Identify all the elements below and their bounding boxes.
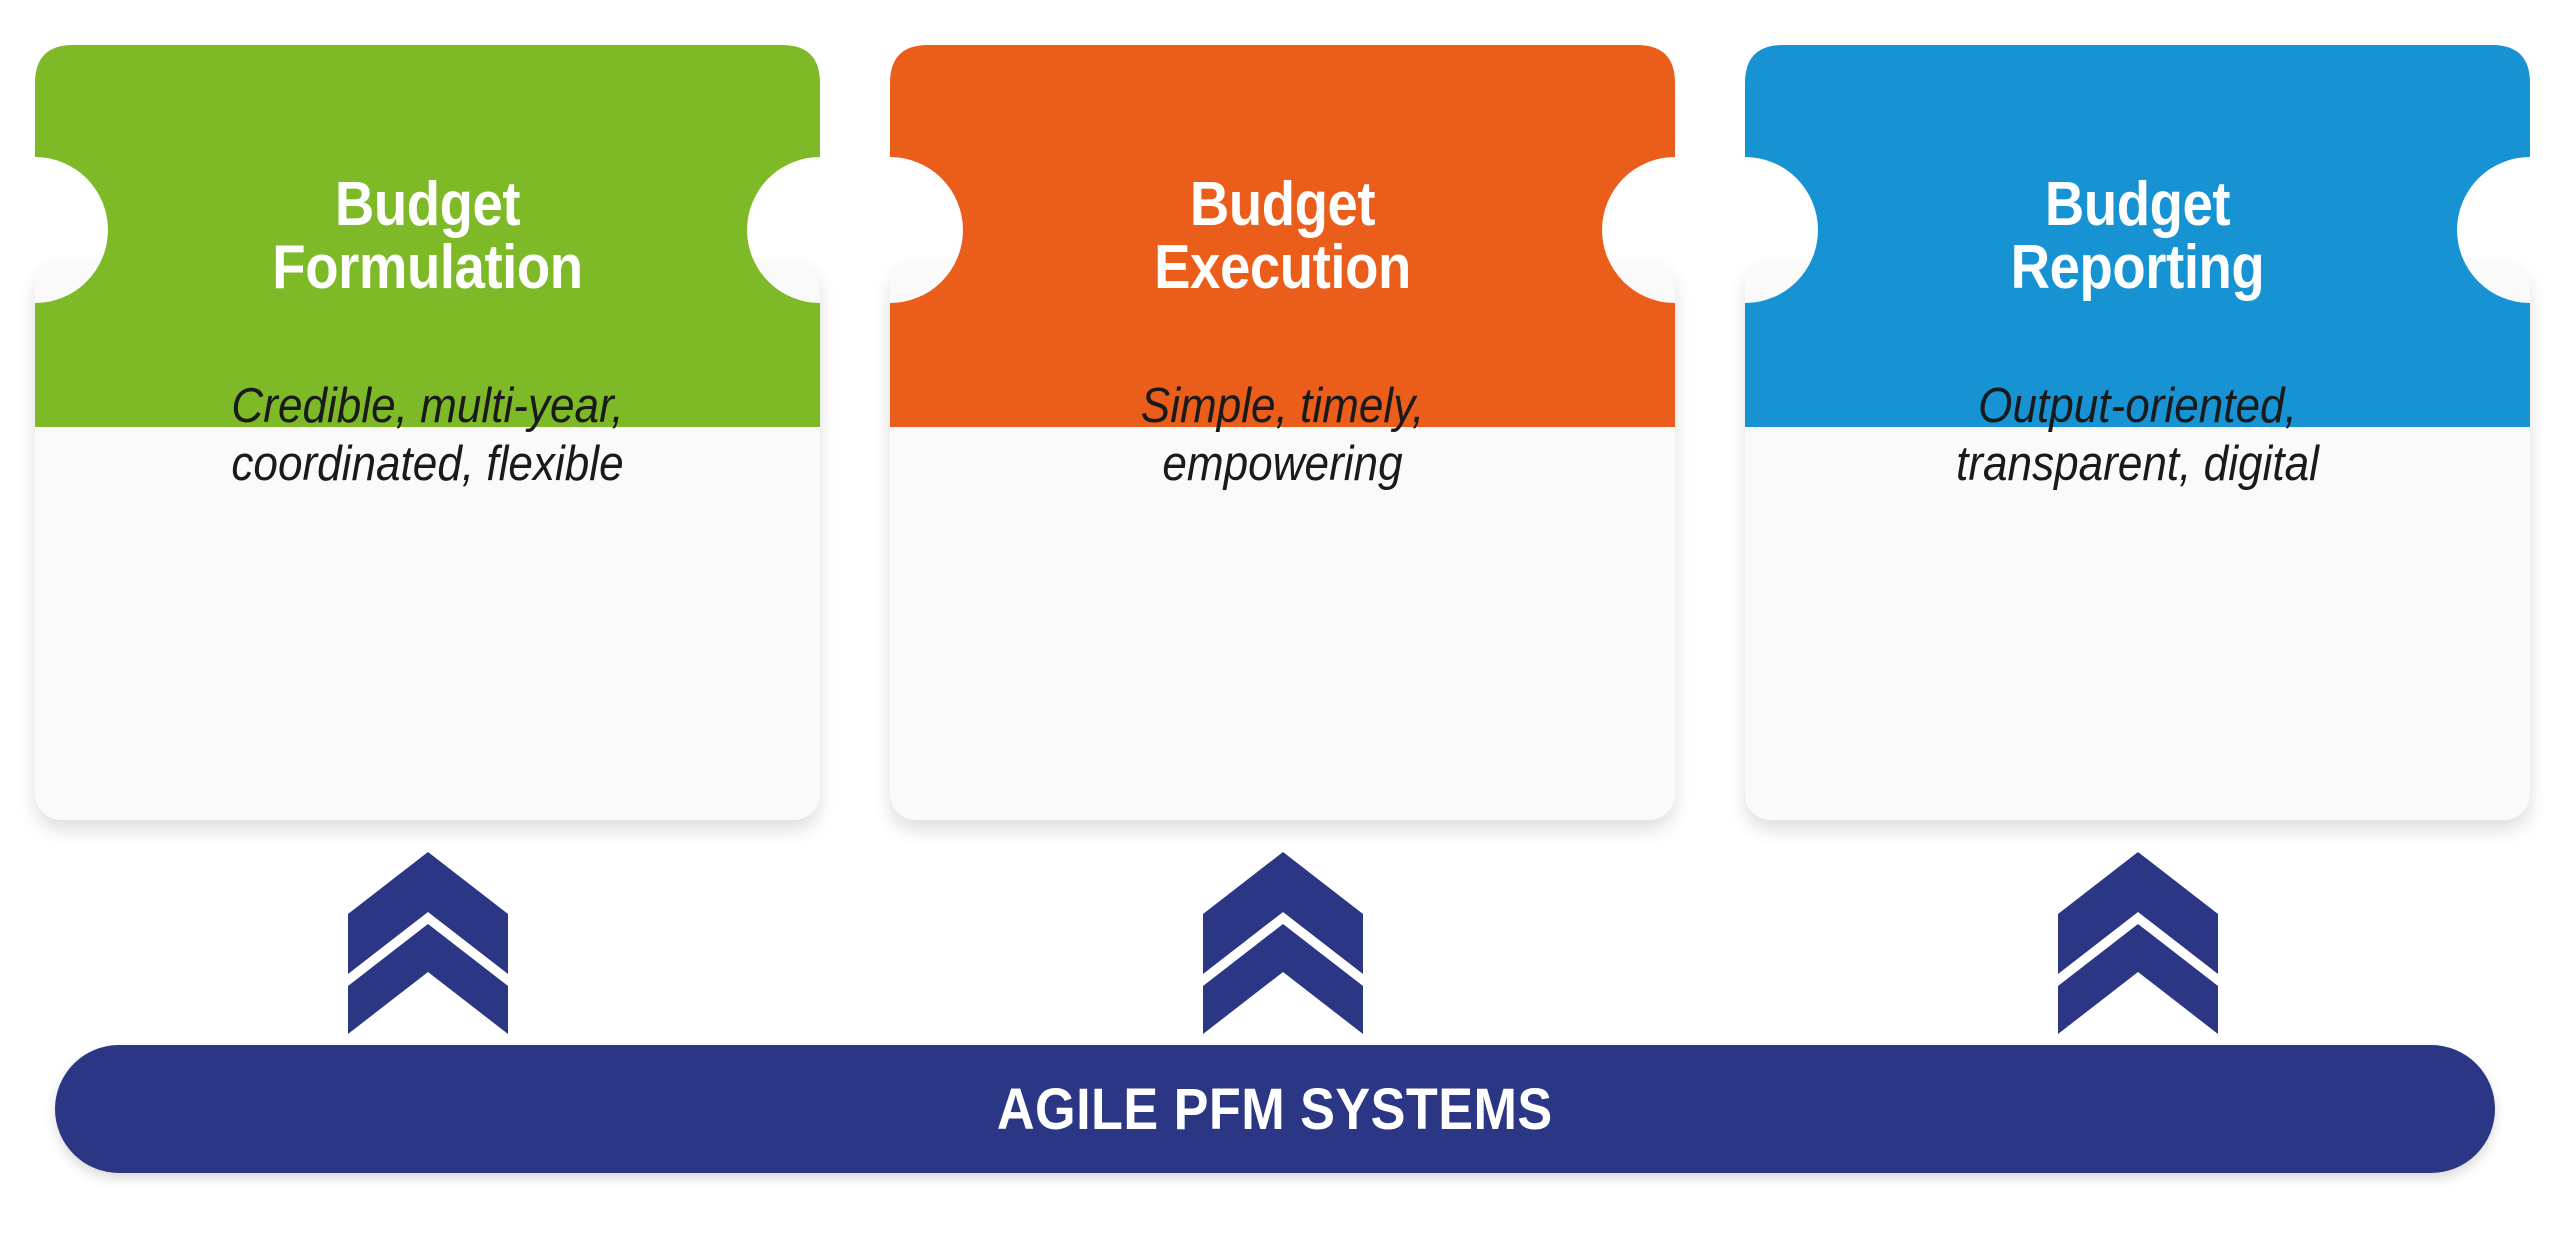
card-body-label: Credible, multi-year, coordinated, flexi… bbox=[74, 260, 781, 820]
double-chevron-up-icon bbox=[2058, 852, 2218, 1034]
double-chevron-up-icon bbox=[348, 852, 508, 1034]
double-chevron-up-icon bbox=[1203, 852, 1363, 1034]
foundation-bar-label: AGILE PFM SYSTEMS bbox=[997, 1076, 1553, 1143]
card-body-label: Simple, timely, empowering bbox=[929, 260, 1636, 820]
foundation-bar[interactable]: AGILE PFM SYSTEMS bbox=[55, 1045, 2495, 1173]
diagram-canvas: Budget Formulation Credible, multi-year,… bbox=[0, 0, 2560, 1255]
card-budget-reporting[interactable]: Budget Reporting Output-oriented, transp… bbox=[1745, 45, 2530, 820]
card-body-label: Output-oriented, transparent, digital bbox=[1784, 260, 2491, 820]
card-budget-formulation[interactable]: Budget Formulation Credible, multi-year,… bbox=[35, 45, 820, 820]
card-budget-execution[interactable]: Budget Execution Simple, timely, empower… bbox=[890, 45, 1675, 820]
